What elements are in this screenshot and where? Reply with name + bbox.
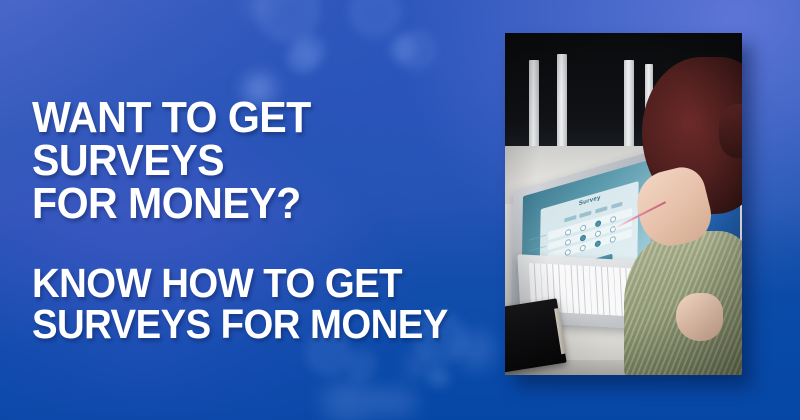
radio-option[interactable] bbox=[610, 215, 616, 223]
photo-panel: Survey bbox=[505, 33, 742, 375]
headline-block: WANT TO GET SURVEYS FOR MONEY? KNOW HOW … bbox=[32, 96, 502, 344]
shelf-leg bbox=[624, 60, 635, 156]
radio-option[interactable] bbox=[610, 235, 616, 243]
radio-option[interactable] bbox=[565, 248, 571, 256]
survey-photo: Survey bbox=[505, 33, 742, 375]
secondary-headline: KNOW HOW TO GET SURVEYS FOR MONEY bbox=[32, 263, 471, 343]
scale-header bbox=[564, 215, 576, 222]
person-resting-hand bbox=[676, 293, 723, 341]
scale-header bbox=[595, 206, 607, 213]
radio-option[interactable] bbox=[580, 244, 586, 252]
notebook bbox=[505, 298, 567, 373]
radio-option[interactable] bbox=[595, 229, 601, 237]
radio-option-selected[interactable] bbox=[595, 240, 601, 248]
banner-root: WANT TO GET SURVEYS FOR MONEY? KNOW HOW … bbox=[0, 0, 800, 420]
radio-option-selected[interactable] bbox=[580, 234, 586, 242]
question-label bbox=[528, 235, 546, 240]
hair-strand bbox=[719, 104, 742, 157]
radio-option[interactable] bbox=[565, 228, 571, 236]
radio-option[interactable] bbox=[580, 224, 586, 232]
radio-option-selected[interactable] bbox=[595, 219, 601, 227]
primary-headline: WANT TO GET SURVEYS FOR MONEY? bbox=[32, 96, 471, 225]
survey-title: Survey bbox=[579, 195, 601, 207]
scale-header bbox=[580, 210, 592, 217]
question-label bbox=[528, 245, 546, 250]
scale-header bbox=[611, 201, 623, 208]
radio-option[interactable] bbox=[565, 238, 571, 246]
